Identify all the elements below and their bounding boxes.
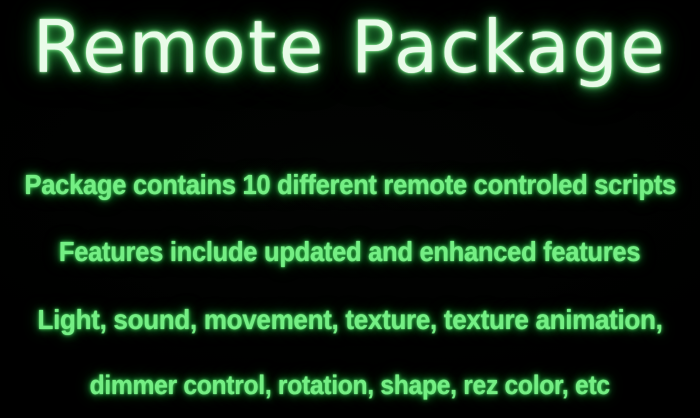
title-container: Remote Package (0, 4, 700, 90)
body-line-1: Package contains 10 different remote con… (24, 171, 675, 200)
body-line-3: Light, sound, movement, texture, texture… (37, 305, 662, 334)
body-line-4: dimmer control, rotation, shape, rez col… (90, 372, 610, 400)
page-title: Remote Package (33, 11, 667, 83)
body-line-2: Features include updated and enhanced fe… (59, 238, 640, 267)
body-text-block: Package contains 10 different remote con… (0, 163, 700, 410)
slide-canvas: Remote Package Package contains 10 diffe… (0, 0, 700, 418)
